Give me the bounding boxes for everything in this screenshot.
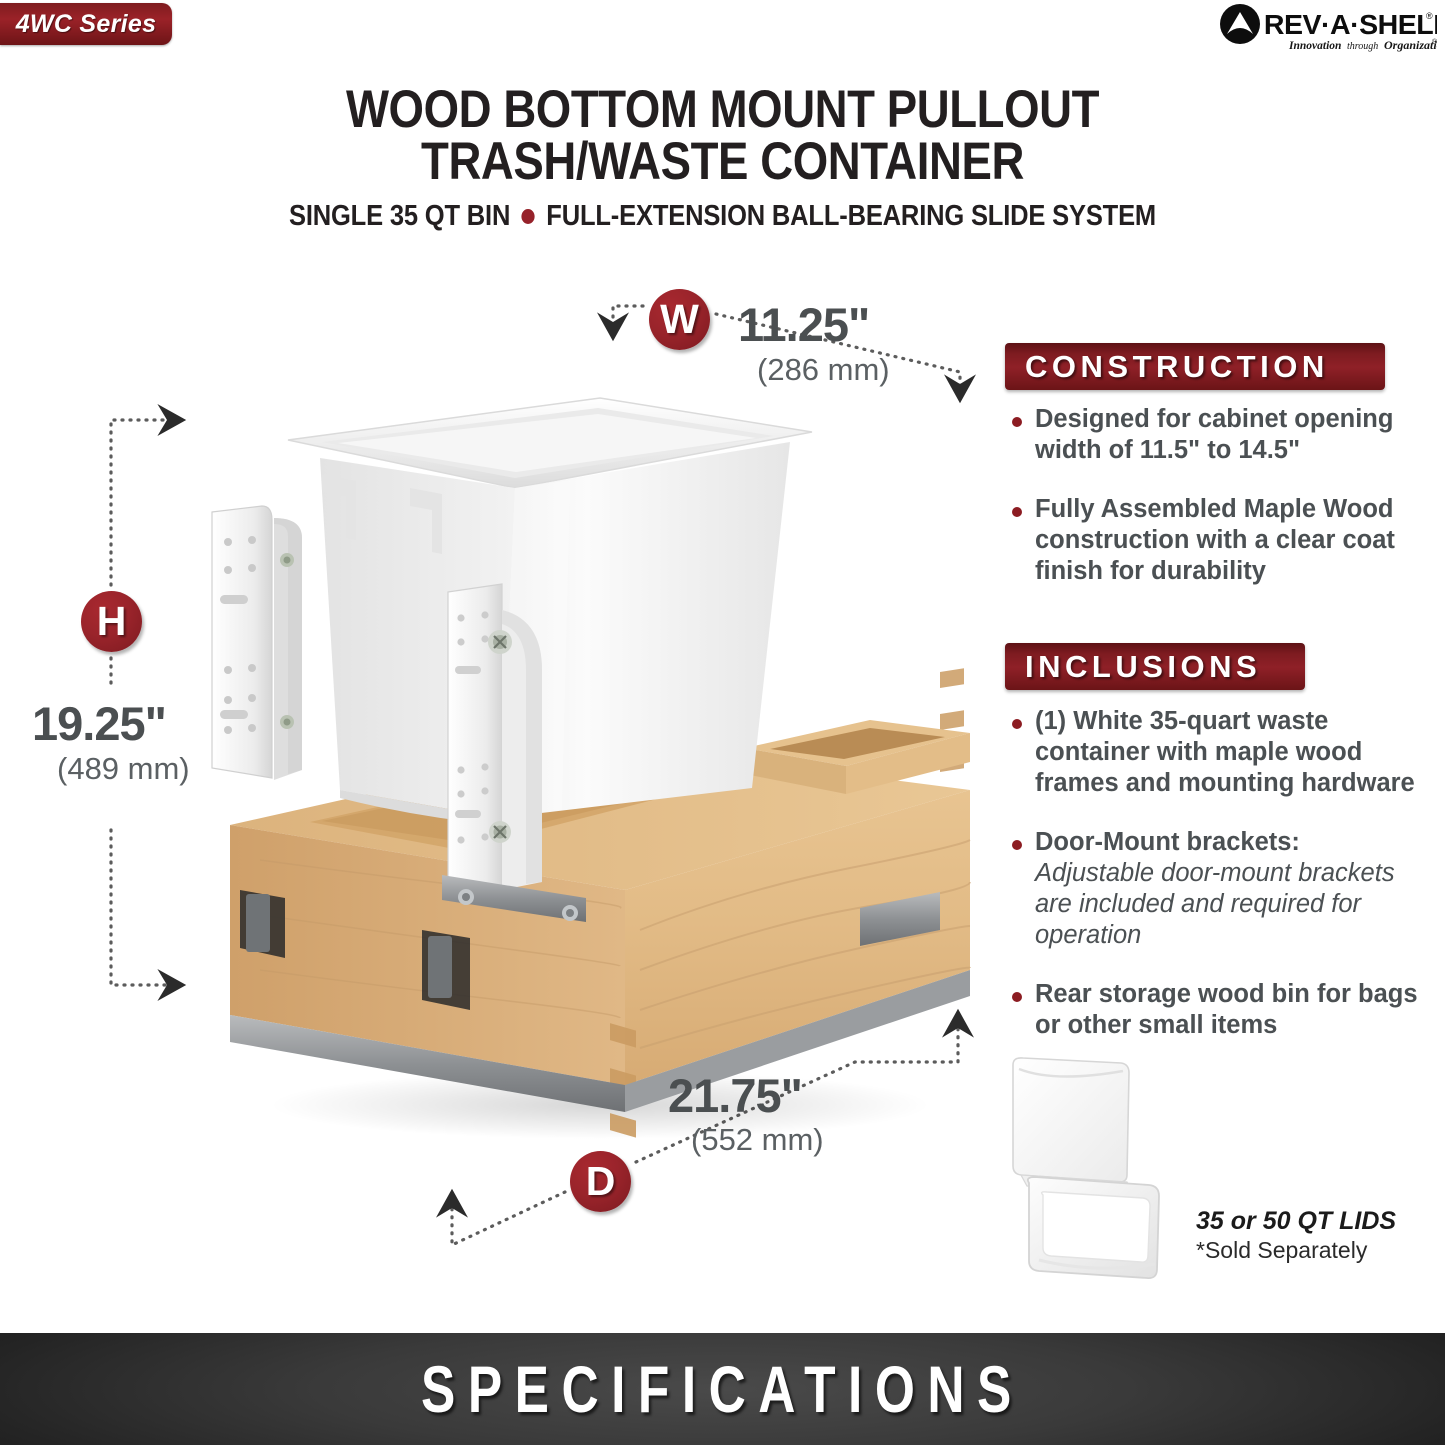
white-waste-bin bbox=[288, 398, 812, 825]
pullout-trash-container-photo bbox=[170, 370, 1000, 1160]
bullet-list-construction: Designed for cabinet opening width of 11… bbox=[1012, 404, 1424, 615]
badge-letter-h: H bbox=[97, 598, 127, 645]
bullet-dot-icon bbox=[1012, 992, 1022, 1002]
badge-letter-d: D bbox=[586, 1158, 616, 1205]
page-subtitle: SINGLE 35 QT BIN FULL-EXTENSION BALL-BEA… bbox=[87, 200, 1359, 233]
title-block: WOOD BOTTOM MOUNT PULLOUT TRASH/WASTE CO… bbox=[0, 84, 1445, 233]
series-tag: 4WC Series bbox=[0, 3, 172, 45]
leader-depth-left bbox=[452, 1192, 565, 1245]
lid-caption-title: 35 or 50 QT LIDS bbox=[1196, 1207, 1396, 1236]
svg-text:Innovation: Innovation bbox=[1288, 40, 1341, 52]
subtitle-separator-dot bbox=[522, 209, 535, 224]
svg-text:Organization: Organization bbox=[1384, 38, 1437, 52]
bullet-text: Rear storage wood bin for bags or other … bbox=[1035, 979, 1424, 1041]
bullet-list-inclusions: (1) White 35-quart waste container with … bbox=[1012, 706, 1424, 1069]
page-title-line-2: TRASH/WASTE CONTAINER bbox=[101, 136, 1344, 188]
badge-letter-w: W bbox=[660, 296, 699, 343]
svg-text:®: ® bbox=[1426, 11, 1433, 21]
section-title-construction: CONSTRUCTION bbox=[1005, 349, 1329, 385]
lid-caption-subtitle: *Sold Separately bbox=[1196, 1237, 1367, 1264]
door-mount-bracket bbox=[212, 506, 302, 780]
svg-text:REV·A·SHELF: REV·A·SHELF bbox=[1264, 8, 1437, 40]
dimension-badge-width: W bbox=[649, 289, 710, 350]
bullet-text: (1) White 35-quart waste container with … bbox=[1035, 706, 1424, 799]
brand-logo: REV·A·SHELF ® Innovation through Organiz… bbox=[1219, 2, 1437, 56]
bullet-text: Designed for cabinet opening width of 11… bbox=[1035, 404, 1424, 466]
svg-text:®: ® bbox=[1432, 38, 1437, 46]
dimension-metric-depth: (552 mm) bbox=[691, 1122, 824, 1158]
dimension-badge-depth: D bbox=[570, 1151, 631, 1212]
dimension-metric-width: (286 mm) bbox=[757, 352, 890, 388]
subtitle-left: SINGLE 35 QT BIN bbox=[289, 200, 510, 233]
specifications-footer-bar: SPECIFICATIONS bbox=[0, 1333, 1445, 1445]
bullet-dot-icon bbox=[1012, 840, 1022, 850]
dimension-badge-height: H bbox=[81, 591, 142, 652]
list-item: (1) White 35-quart waste container with … bbox=[1012, 706, 1424, 799]
list-item: Designed for cabinet opening width of 11… bbox=[1012, 404, 1424, 466]
dimension-value-depth: 21.75" bbox=[668, 1068, 802, 1123]
list-item: Fully Assembled Maple Wood construction … bbox=[1012, 494, 1424, 587]
bullet-text: Fully Assembled Maple Wood construction … bbox=[1035, 494, 1424, 587]
dimension-metric-height: (489 mm) bbox=[57, 751, 190, 787]
bullet-dot-icon bbox=[1012, 719, 1022, 729]
list-item: Rear storage wood bin for bags or other … bbox=[1012, 979, 1424, 1041]
infographic-stage: 4WC Series REV·A·SHELF ® Innovation thro… bbox=[0, 0, 1445, 1445]
subtitle-right: FULL-EXTENSION BALL-BEARING SLIDE SYSTEM bbox=[546, 200, 1156, 233]
dimension-value-width: 11.25" bbox=[738, 297, 869, 352]
dimension-value-height: 19.25" bbox=[32, 696, 166, 751]
section-header-construction: CONSTRUCTION bbox=[1005, 343, 1385, 390]
specifications-label: SPECIFICATIONS bbox=[421, 1351, 1024, 1427]
flip-lid-icon bbox=[995, 1055, 1205, 1290]
section-header-inclusions: INCLUSIONS bbox=[1005, 643, 1305, 690]
leader-width-left bbox=[613, 306, 643, 338]
page-title-line-1: WOOD BOTTOM MOUNT PULLOUT bbox=[101, 84, 1344, 136]
bullet-italic: Adjustable door-mount brackets are inclu… bbox=[1035, 859, 1395, 949]
series-tag-label: 4WC Series bbox=[16, 10, 157, 39]
section-title-inclusions: INCLUSIONS bbox=[1005, 649, 1261, 685]
svg-text:through: through bbox=[1347, 41, 1378, 52]
list-item: Door-Mount brackets: Adjustable door-mou… bbox=[1012, 827, 1424, 951]
bullet-dot-icon bbox=[1012, 417, 1022, 427]
bullet-dot-icon bbox=[1012, 507, 1022, 517]
mountain-arrow-icon: REV·A·SHELF ® Innovation through Organiz… bbox=[1219, 2, 1437, 56]
bullet-text: Door-Mount brackets: Adjustable door-mou… bbox=[1035, 827, 1424, 951]
bullet-lead: Door-Mount brackets: bbox=[1035, 828, 1300, 856]
